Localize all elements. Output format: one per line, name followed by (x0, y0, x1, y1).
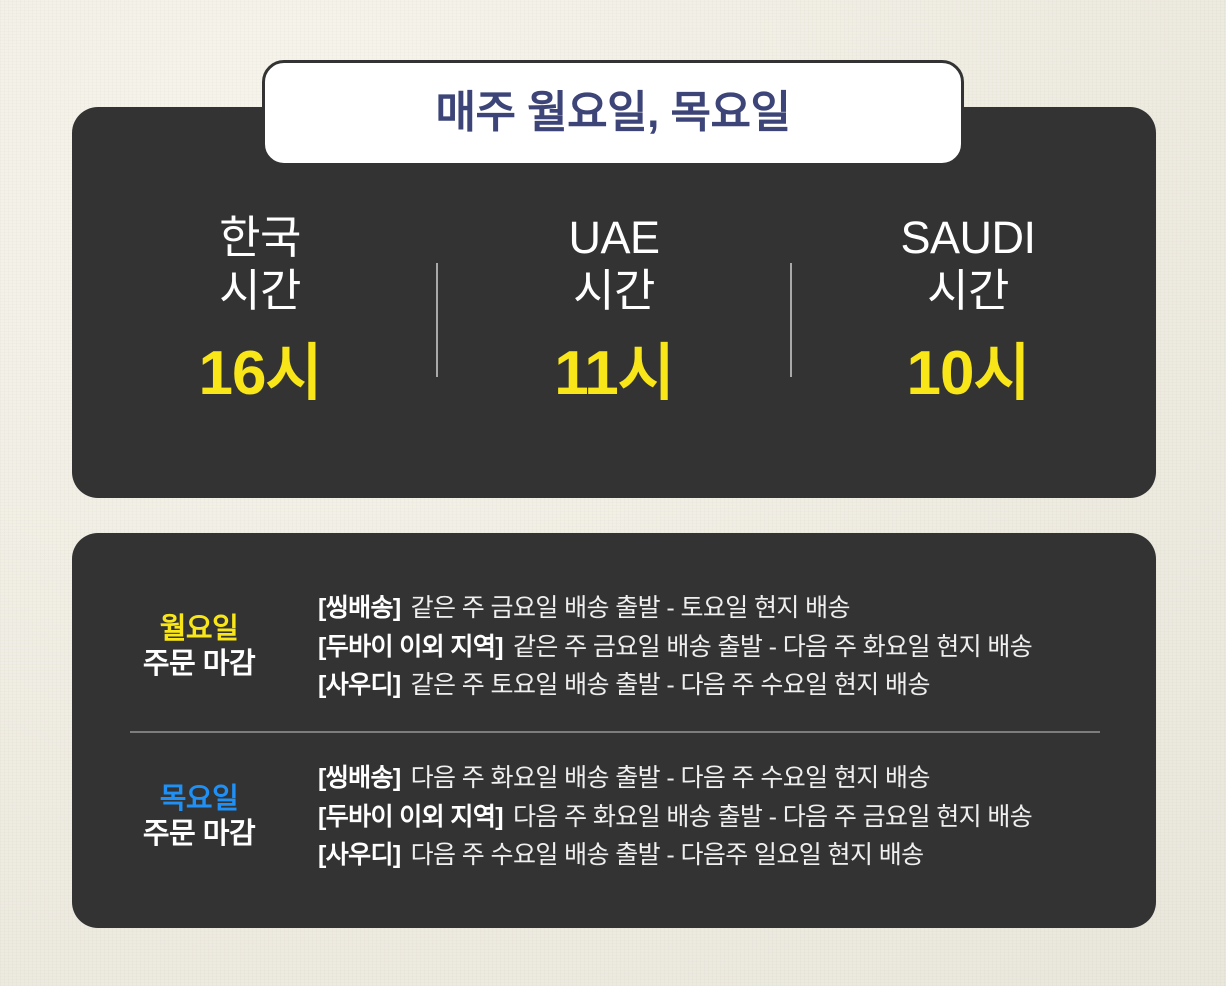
section-divider (130, 731, 1100, 733)
deadline-day-name: 월요일 (88, 612, 310, 647)
time-value: 16시 (198, 343, 321, 405)
time-region-label: 한국 (219, 211, 301, 264)
deadline-cutoff-label: 주문 마감 (88, 647, 310, 682)
time-unit-label: 시간 (219, 264, 301, 317)
deadline-text: 다음 주 수요일 배송 출발 - 다음주 일요일 현지 배송 (411, 841, 924, 869)
deadline-line: [씽배송]같은 주 금요일 배송 출발 - 토요일 현지 배송 (318, 594, 1132, 623)
page-title: 매주 월요일, 목요일 (435, 91, 790, 135)
time-value: 11시 (554, 343, 674, 405)
deadline-card: 월요일 주문 마감 [씽배송]같은 주 금요일 배송 출발 - 토요일 현지 배… (72, 533, 1156, 928)
deadline-lines-monday: [씽배송]같은 주 금요일 배송 출발 - 토요일 현지 배송 [두바이 이외 … (310, 594, 1132, 700)
deadline-block-monday: 월요일 주문 마감 [씽배송]같은 주 금요일 배송 출발 - 토요일 현지 배… (72, 567, 1156, 727)
deadline-tag: [두바이 이외 지역] (318, 803, 503, 831)
deadline-line: [두바이 이외 지역]같은 주 금요일 배송 출발 - 다음 주 화요일 현지 … (318, 633, 1132, 662)
deadline-tag: [사우디] (318, 841, 401, 869)
deadline-line: [사우디]같은 주 토요일 배송 출발 - 다음 주 수요일 현지 배송 (318, 671, 1132, 700)
deadline-label-thursday: 목요일 주문 마감 (88, 782, 310, 853)
deadline-day-name: 목요일 (88, 782, 310, 817)
deadline-line: [씽배송]다음 주 화요일 배송 출발 - 다음 주 수요일 현지 배송 (318, 764, 1132, 793)
deadline-text: 같은 주 금요일 배송 출발 - 토요일 현지 배송 (411, 594, 850, 622)
deadline-block-thursday: 목요일 주문 마감 [씽배송]다음 주 화요일 배송 출발 - 다음 주 수요일… (72, 737, 1156, 897)
time-unit-label: 시간 (927, 264, 1009, 317)
deadline-text: 다음 주 화요일 배송 출발 - 다음 주 금요일 현지 배송 (513, 803, 1032, 831)
deadline-cutoff-label: 주문 마감 (88, 817, 310, 852)
deadline-line: [두바이 이외 지역]다음 주 화요일 배송 출발 - 다음 주 금요일 현지 … (318, 803, 1132, 832)
deadline-tag: [사우디] (318, 671, 401, 699)
deadline-text: 같은 주 금요일 배송 출발 - 다음 주 화요일 현지 배송 (513, 633, 1032, 661)
deadline-tag: [씽배송] (318, 594, 401, 622)
time-column-korea: 한국 시간 16시 (84, 207, 436, 405)
time-region-label: SAUDI (900, 211, 1035, 264)
time-column-uae: UAE 시간 11시 (438, 207, 790, 405)
deadline-text: 같은 주 토요일 배송 출발 - 다음 주 수요일 현지 배송 (411, 671, 930, 699)
time-unit-label: 시간 (573, 264, 655, 317)
deadline-tag: [두바이 이외 지역] (318, 633, 503, 661)
time-columns: 한국 시간 16시 UAE 시간 11시 SAUDI 시간 10시 (72, 207, 1156, 457)
deadline-label-monday: 월요일 주문 마감 (88, 612, 310, 683)
deadline-lines-thursday: [씽배송]다음 주 화요일 배송 출발 - 다음 주 수요일 현지 배송 [두바… (310, 764, 1132, 870)
infographic-page: 한국 시간 16시 UAE 시간 11시 SAUDI 시간 10시 매주 월요일… (0, 0, 1226, 986)
title-badge: 매주 월요일, 목요일 (262, 60, 964, 166)
time-region-label: UAE (568, 211, 659, 264)
time-column-saudi: SAUDI 시간 10시 (792, 207, 1144, 405)
deadline-line: [사우디]다음 주 수요일 배송 출발 - 다음주 일요일 현지 배송 (318, 841, 1132, 870)
deadline-text: 다음 주 화요일 배송 출발 - 다음 주 수요일 현지 배송 (411, 764, 930, 792)
deadline-tag: [씽배송] (318, 764, 401, 792)
time-value: 10시 (906, 343, 1029, 405)
